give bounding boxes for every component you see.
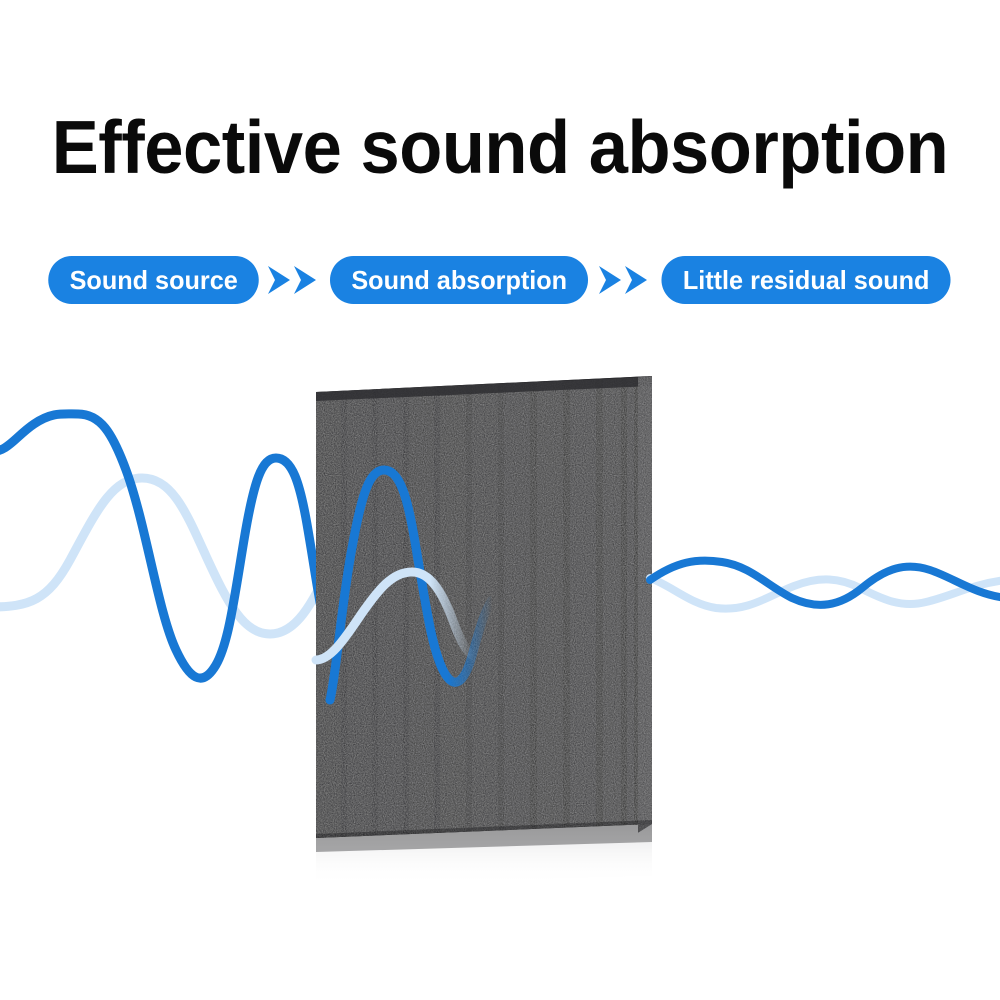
flow-step-label: Sound source bbox=[70, 267, 238, 293]
foam-wedge bbox=[537, 381, 570, 835]
page-title: Effective sound absorption bbox=[30, 104, 970, 190]
double-chevron-right-icon bbox=[262, 260, 326, 300]
acoustic-foam-panel bbox=[316, 376, 652, 886]
double-chevron-right-icon bbox=[593, 260, 657, 300]
residual-sound-waves bbox=[650, 561, 1000, 609]
flow-step-little-residual-sound[interactable]: Little residual sound bbox=[661, 256, 950, 304]
foam-wedge bbox=[570, 379, 603, 834]
foam-wedge bbox=[627, 377, 638, 833]
product-feature-graphic: Effective sound absorption Sound source … bbox=[0, 0, 1000, 1000]
panel-right-face bbox=[638, 376, 652, 833]
flow-step-sound-absorption[interactable]: Sound absorption bbox=[330, 256, 588, 304]
flow-step-sound-source[interactable]: Sound source bbox=[48, 256, 259, 304]
foam-wedge bbox=[504, 382, 537, 836]
foam-wedge bbox=[378, 388, 409, 838]
sound-absorption-flow: Sound source Sound absorption Little res… bbox=[0, 252, 1000, 308]
foam-wedge bbox=[603, 378, 627, 834]
flow-step-label: Sound absorption bbox=[352, 267, 568, 293]
flow-step-label: Little residual sound bbox=[683, 267, 930, 293]
